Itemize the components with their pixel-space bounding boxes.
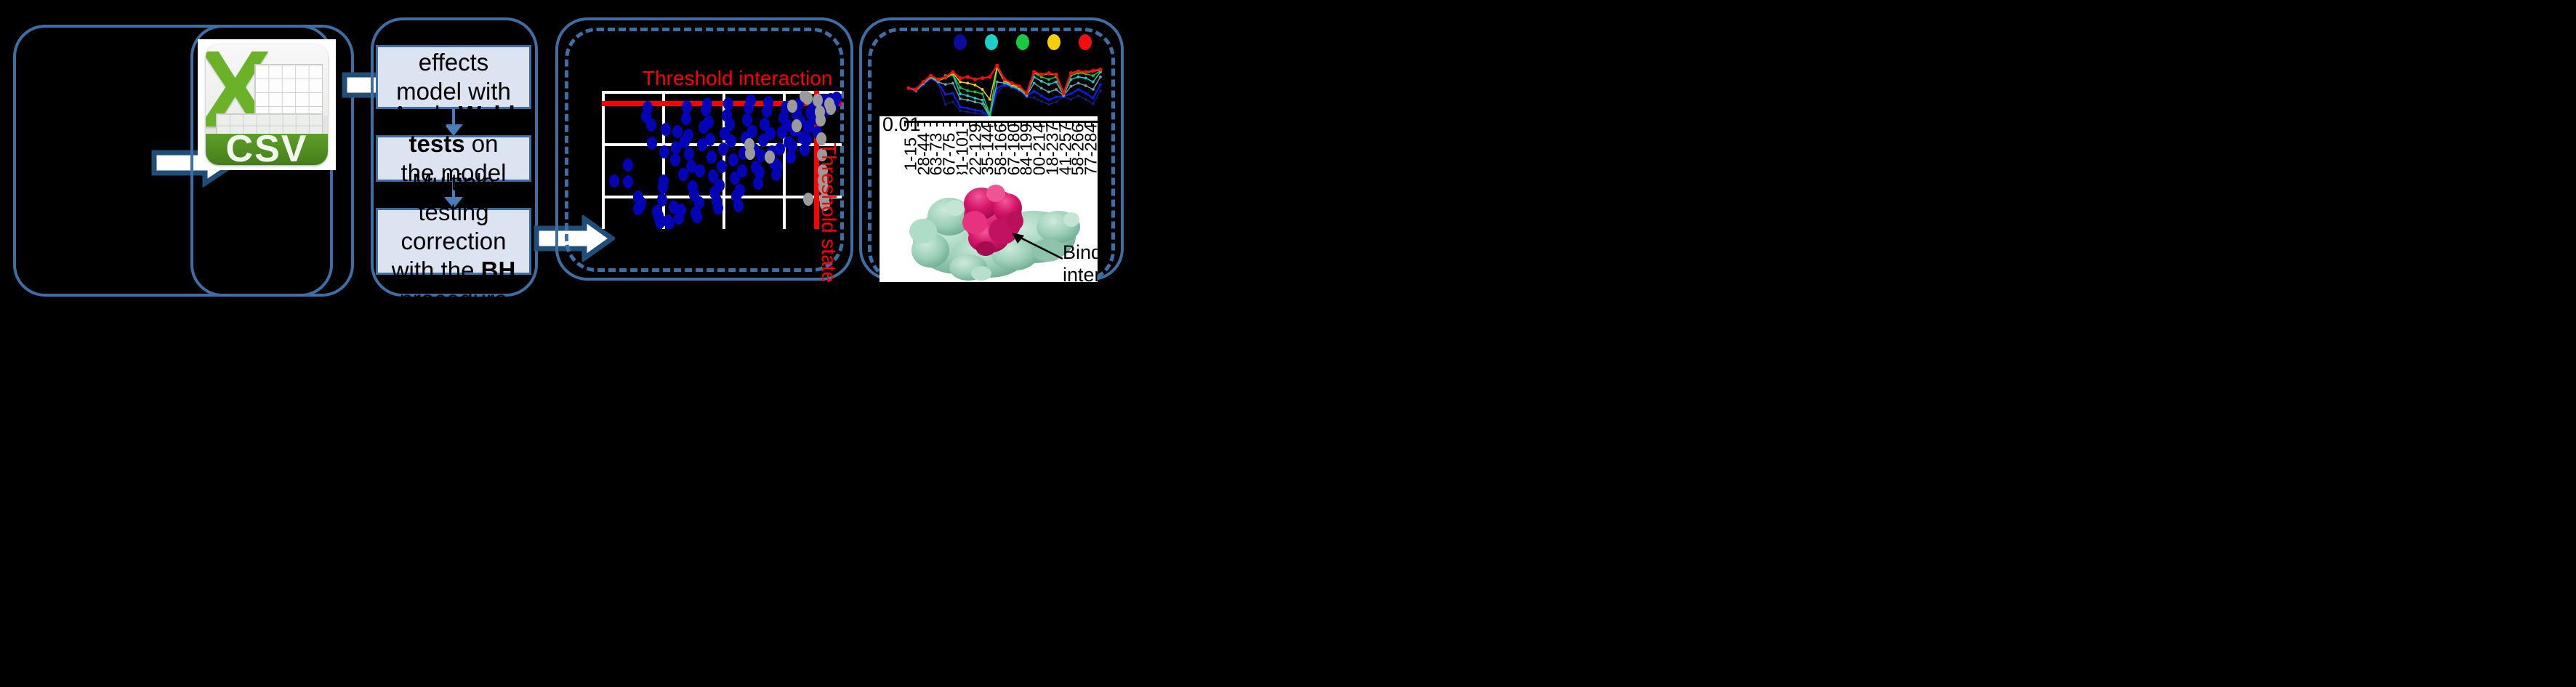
volcano-point xyxy=(765,127,776,140)
volcano-point xyxy=(646,118,656,132)
peptide-data-point xyxy=(936,78,940,81)
peptide-data-point xyxy=(1055,81,1058,84)
peptide-data-point xyxy=(951,92,954,95)
peptide-data-point xyxy=(959,92,962,95)
peptide-data-point xyxy=(1092,81,1095,84)
peptide-tick xyxy=(956,121,957,126)
peptide-data-point xyxy=(943,75,947,79)
peptide-data-point xyxy=(981,110,984,113)
peptide-tick xyxy=(911,121,912,126)
peptide-data-point xyxy=(989,98,991,101)
peptide-data-point xyxy=(1054,73,1058,76)
csv-file-icon: X CSV xyxy=(198,39,336,170)
binding-interface-line1: Binding xyxy=(1063,241,1098,264)
peptide-data-point xyxy=(1092,74,1095,77)
peptide-data-point xyxy=(1032,70,1036,73)
peptide-data-point xyxy=(1055,95,1058,98)
volcano-point xyxy=(745,147,755,160)
peptide-tick xyxy=(962,121,964,126)
peptide-data-point xyxy=(1055,88,1058,91)
legend-swatch-t1 xyxy=(954,34,967,50)
volcano-point xyxy=(816,113,826,126)
threshold-interaction-label: Threshold interaction xyxy=(643,67,832,90)
peptide-data-point xyxy=(1047,83,1050,86)
peptide-data-point xyxy=(914,87,918,91)
peptide-data-point xyxy=(1025,92,1029,95)
peptide-data-point xyxy=(966,99,969,102)
peptide-data-point xyxy=(973,78,977,81)
volcano-point xyxy=(694,196,704,209)
peptide-data-point xyxy=(1069,71,1073,75)
peptide-data-point xyxy=(1092,103,1095,105)
step-bh-bold: BH xyxy=(481,257,516,284)
peptide-tick xyxy=(904,121,906,126)
peptide-data-point xyxy=(1077,76,1080,79)
peptide-data-point xyxy=(1084,98,1087,101)
peptide-data-point xyxy=(981,99,984,102)
volcano-point xyxy=(623,175,633,188)
peptide-data-point xyxy=(1069,98,1072,101)
volcano-point xyxy=(802,133,812,146)
volcano-point xyxy=(723,97,733,111)
peptide-data-point xyxy=(959,97,962,100)
csv-icon-body: X CSV xyxy=(206,44,327,165)
peptide-data-point xyxy=(1077,95,1080,97)
binding-interface-label: Binding interface xyxy=(1063,241,1098,282)
volcano-point xyxy=(643,101,653,114)
step-bh-line1: Multiple testing xyxy=(412,169,495,225)
protein-structure-image: Binding interface xyxy=(880,174,1098,282)
peptide-data-point xyxy=(995,64,999,68)
peptide-data-point xyxy=(973,112,976,115)
peptide-data-point xyxy=(1040,80,1043,83)
peptide-data-point xyxy=(929,73,933,77)
step-bh-line3c: procedure xyxy=(400,286,508,313)
peptide-data-point xyxy=(973,84,976,87)
peptide-data-point xyxy=(966,95,969,97)
peptide-data-point xyxy=(951,100,954,103)
peptide-data-point xyxy=(1084,92,1087,95)
volcano-point xyxy=(704,116,714,129)
volcano-point xyxy=(657,193,667,206)
peptide-data-point xyxy=(1084,70,1087,73)
peptide-data-point xyxy=(1099,76,1102,79)
peptide-data-point xyxy=(981,113,984,116)
peptide-data-point xyxy=(989,113,991,116)
peptide-data-point xyxy=(1047,78,1050,81)
peptide-data-point xyxy=(1047,91,1050,94)
peptide-data-point xyxy=(1033,82,1036,85)
peptide-data-point xyxy=(966,107,969,110)
volcano-point xyxy=(717,160,727,173)
peptide-data-point xyxy=(1084,77,1087,80)
peptide-data-point xyxy=(1098,68,1102,71)
peptide-data-point xyxy=(966,82,969,85)
peptide-data-point xyxy=(1062,92,1066,95)
volcano-point xyxy=(705,133,715,146)
peptide-data-point xyxy=(981,88,984,91)
volcano-point xyxy=(826,102,836,115)
peptide-tick xyxy=(924,121,925,126)
peptide-data-point xyxy=(1018,84,1021,88)
peptide-data-point xyxy=(1033,96,1036,99)
volcano-scatter-plot xyxy=(602,91,842,229)
volcano-point xyxy=(792,119,802,132)
peptide-data-point xyxy=(958,76,962,80)
peptide-tick xyxy=(917,121,919,126)
peptide-data-point xyxy=(981,92,984,95)
peptide-data-point xyxy=(906,87,910,90)
volcano-point xyxy=(664,217,675,229)
peptide-data-point xyxy=(1092,97,1095,100)
volcano-point xyxy=(682,100,692,113)
peptide-tick xyxy=(936,121,938,126)
peptide-data-point xyxy=(1099,83,1102,86)
peptide-data-point xyxy=(1010,81,1014,85)
peptide-data-point xyxy=(1069,85,1072,88)
volcano-point xyxy=(753,177,763,190)
peptide-data-point xyxy=(973,97,976,100)
peptide-data-point xyxy=(959,81,962,84)
peptide-data-point xyxy=(1055,100,1058,103)
volcano-point xyxy=(623,158,633,172)
step-multiple-testing-box[interactable]: Multiple testing correction with the BH … xyxy=(376,208,531,275)
step-fit-line2: effects model with xyxy=(396,49,511,105)
peptide-data-point xyxy=(1099,89,1102,92)
csv-grid-upper xyxy=(254,64,323,121)
step-bh-line2: correction xyxy=(401,228,507,254)
volcano-point xyxy=(702,97,712,111)
peptide-data-point xyxy=(951,82,954,85)
step-fit-line1: Fit a linear mixed- xyxy=(398,0,510,47)
peptide-data-point xyxy=(944,93,947,96)
volcano-point xyxy=(609,174,619,188)
volcano-point xyxy=(681,112,691,125)
peptide-tick xyxy=(930,121,931,126)
peptide-tick xyxy=(943,121,944,126)
peptide-data-point xyxy=(1039,73,1043,76)
step-wald-line1c: on xyxy=(465,130,499,157)
volcano-point xyxy=(725,118,735,131)
legend-swatch-t4 xyxy=(1047,34,1060,50)
peptide-data-point xyxy=(1077,88,1080,91)
peptide-data-point xyxy=(1002,78,1006,81)
peptide-data-point xyxy=(966,89,969,92)
peptide-data-point xyxy=(1091,69,1095,73)
peptide-legend xyxy=(954,34,1092,50)
peptide-tick-label: 277-284 xyxy=(1065,128,1098,180)
peptide-data-point xyxy=(922,80,925,84)
peptide-series-lines xyxy=(895,52,1114,125)
peptide-data-point xyxy=(944,103,947,106)
peptide-data-point xyxy=(1047,103,1050,106)
peptide-data-point xyxy=(966,111,969,113)
volcano-point xyxy=(683,129,693,142)
peptide-data-point xyxy=(1077,82,1080,85)
volcano-point xyxy=(636,196,646,209)
peptide-data-point xyxy=(966,75,970,79)
peptide-data-point xyxy=(1047,99,1050,102)
peptide-data-point xyxy=(1047,71,1050,75)
peptide-data-point xyxy=(1076,69,1080,73)
peptide-tick xyxy=(949,121,951,126)
csv-format-label: CSV xyxy=(206,134,327,165)
threshold-state-label: Threshold state xyxy=(817,142,840,283)
peptide-data-point xyxy=(959,105,962,108)
peptide-data-point xyxy=(988,75,991,79)
volcano-point xyxy=(773,160,783,173)
step-wald-line1a: Apply xyxy=(392,101,459,128)
peptide-tick-labels: 1-1528-4463-7367-7581-101122-129135-1441… xyxy=(904,128,1098,180)
peptide-profile-chart xyxy=(895,32,1114,126)
peptide-data-point xyxy=(1040,100,1043,103)
binding-interface-line2: interface xyxy=(1063,264,1098,282)
volcano-point xyxy=(746,94,756,107)
peptide-data-point xyxy=(959,109,962,112)
peptide-data-point xyxy=(1033,90,1036,93)
peptide-data-point xyxy=(973,91,976,94)
step-bh-line3a: with the xyxy=(392,257,481,284)
volcano-point xyxy=(670,153,680,166)
volcano-point xyxy=(733,199,744,212)
peptide-data-point xyxy=(1084,84,1087,87)
peptide-data-point xyxy=(959,87,962,89)
peptide-data-point xyxy=(973,100,976,103)
peptide-data-point xyxy=(1040,95,1043,97)
peptide-data-point xyxy=(996,81,999,84)
legend-swatch-t3 xyxy=(1016,34,1029,50)
peptide-data-point xyxy=(1040,87,1043,89)
peptide-data-point xyxy=(1069,92,1072,95)
volcano-point xyxy=(728,153,738,166)
peptide-data-point xyxy=(944,83,947,86)
legend-swatch-t5 xyxy=(1079,34,1092,50)
peptide-data-point xyxy=(1092,88,1095,91)
peptide-data-point xyxy=(973,108,976,111)
peptide-data-point xyxy=(981,76,984,80)
peptide-data-point xyxy=(951,70,954,73)
legend-swatch-t2 xyxy=(985,34,998,50)
